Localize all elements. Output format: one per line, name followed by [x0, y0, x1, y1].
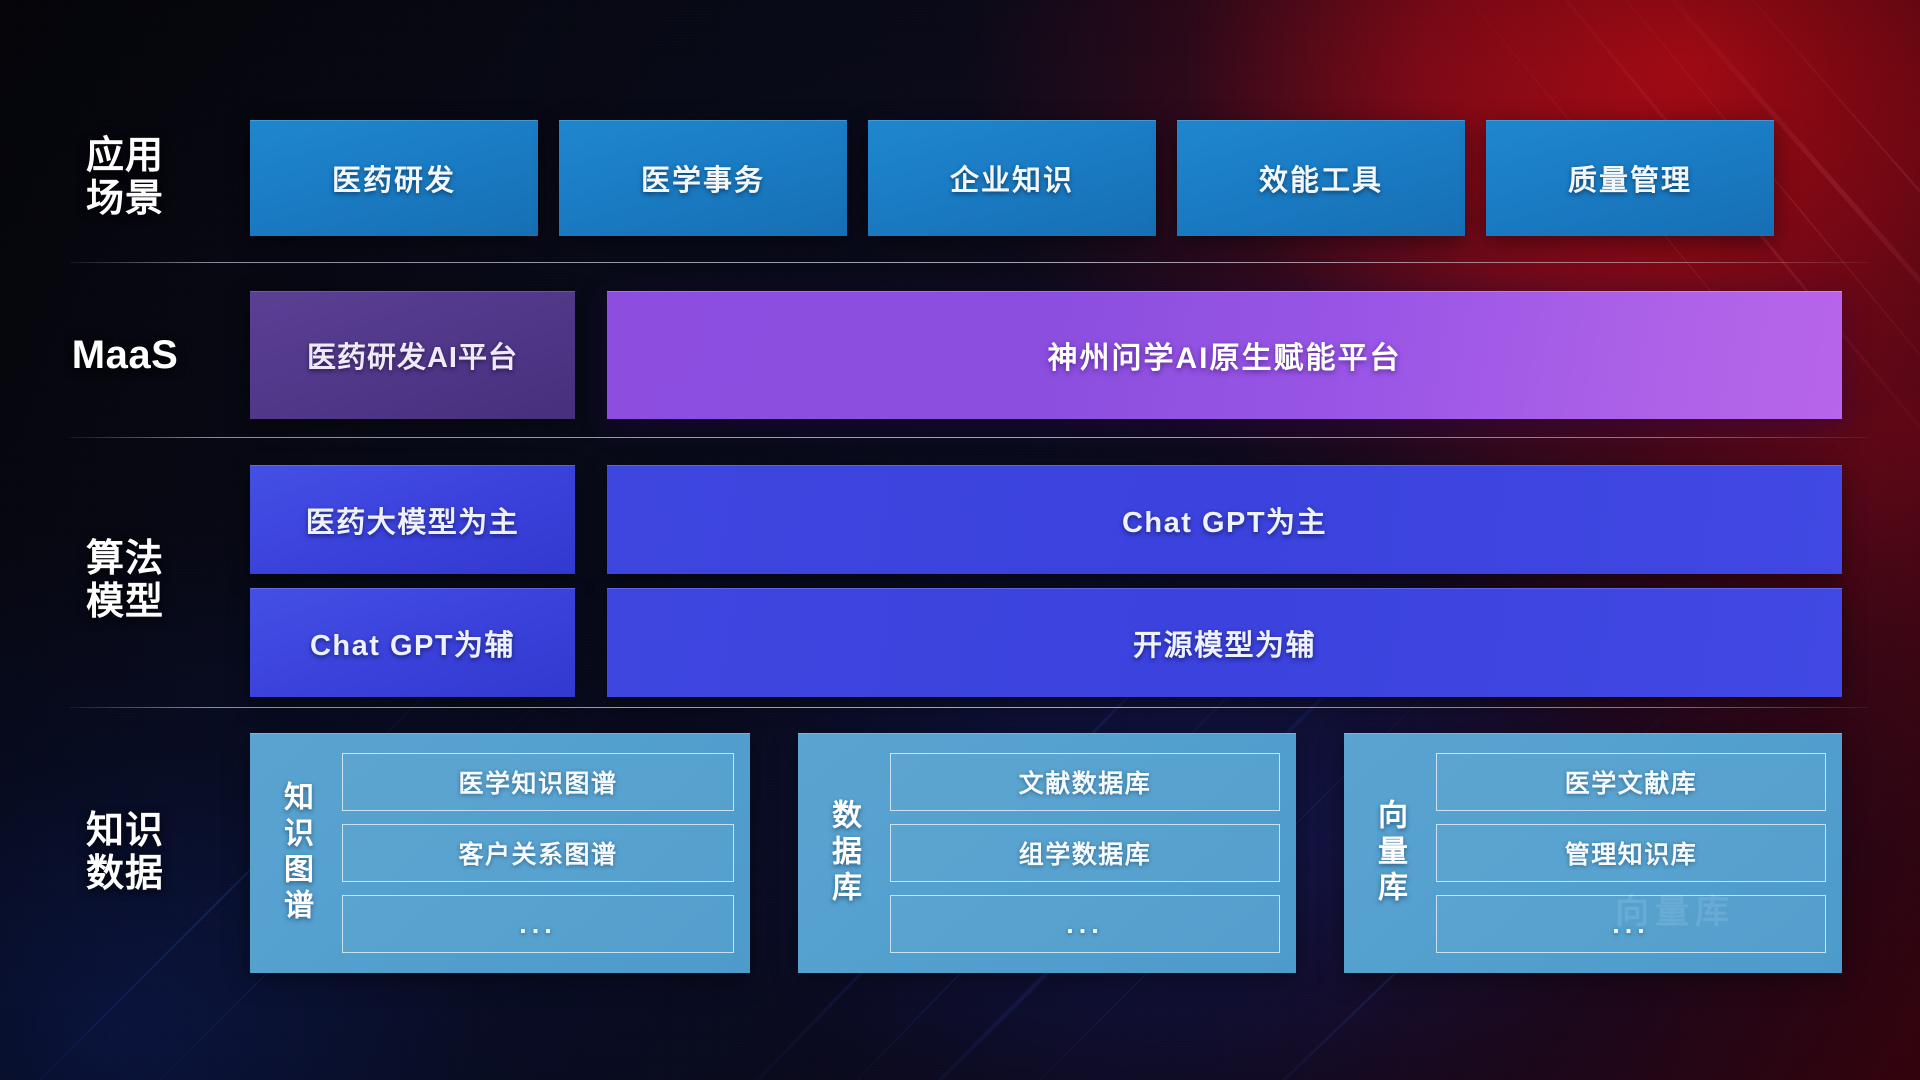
knowledge-item-medical-knowledge-graph[interactable]: 医学知识图谱: [342, 753, 734, 811]
algo-card-chatgpt-primary[interactable]: Chat GPT为主: [607, 465, 1842, 574]
row-label-maas: MaaS: [0, 333, 250, 378]
knowledge-item-management-knowledge-store[interactable]: 管理知识库: [1436, 824, 1826, 882]
application-card-track: 医药研发 医学事务 企业知识 效能工具 质量管理: [250, 120, 1774, 236]
knowledge-item-list: 医学知识图谱 客户关系图谱 ...: [342, 747, 734, 959]
knowledge-item-list: 医学文献库 管理知识库 ...: [1436, 747, 1826, 959]
divider-maas-algo: [70, 437, 1868, 438]
row-algorithm-models: 算法 模型 医药大模型为主 Chat GPT为主 Chat GPT为辅 开源模型…: [0, 465, 1920, 697]
row-label-line1: 算法: [0, 538, 250, 581]
knowledge-item-more-2[interactable]: ...: [890, 895, 1280, 953]
row-label-line1: 应用: [0, 135, 250, 178]
row-label-algorithm-models: 算法 模型: [0, 538, 250, 623]
divider-apps-maas: [70, 262, 1868, 263]
row-label-line1: 知识: [0, 810, 250, 853]
knowledge-item-medical-literature-store[interactable]: 医学文献库: [1436, 753, 1826, 811]
row-application-scenarios: 应用 场景 医药研发 医学事务 企业知识 效能工具 质量管理: [0, 120, 1920, 236]
knowledge-item-list: 文献数据库 组学数据库 ...: [890, 747, 1280, 959]
knowledge-group-title-knowledge-graph: 知识图谱: [262, 747, 328, 959]
knowledge-group-database: 数据库 文献数据库 组学数据库 ...: [798, 733, 1296, 973]
row-label-line2: 数据: [0, 853, 250, 896]
knowledge-item-customer-relation-graph[interactable]: 客户关系图谱: [342, 824, 734, 882]
knowledge-group-title-database: 数据库: [810, 747, 876, 959]
knowledge-item-literature-database[interactable]: 文献数据库: [890, 753, 1280, 811]
knowledge-item-more-3[interactable]: ...: [1436, 895, 1826, 953]
knowledge-group-knowledge-graph: 知识图谱 医学知识图谱 客户关系图谱 ...: [250, 733, 750, 973]
app-card-medical-affairs[interactable]: 医学事务: [559, 120, 847, 236]
knowledge-group-vector-store: 向量库 医学文献库 管理知识库 ...: [1344, 733, 1842, 973]
algorithm-grid: 医药大模型为主 Chat GPT为主 Chat GPT为辅 开源模型为辅: [250, 465, 1842, 697]
maas-platform-medicine-ai[interactable]: 医药研发AI平台: [250, 291, 575, 419]
knowledge-item-more-1[interactable]: ...: [342, 895, 734, 953]
algo-card-opensource-secondary[interactable]: 开源模型为辅: [607, 588, 1842, 697]
app-card-efficiency-tools[interactable]: 效能工具: [1177, 120, 1465, 236]
knowledge-group-track: 知识图谱 医学知识图谱 客户关系图谱 ... 数据库 文献数据库 组学数据库 .…: [250, 733, 1842, 973]
row-maas: MaaS 医药研发AI平台 神州问学AI原生赋能平台: [0, 291, 1920, 419]
row-label-application-scenarios: 应用 场景: [0, 135, 250, 220]
algo-card-chatgpt-secondary[interactable]: Chat GPT为辅: [250, 588, 575, 697]
row-label-knowledge-data: 知识 数据: [0, 810, 250, 895]
divider-algo-knowledge: [70, 707, 1868, 708]
app-card-enterprise-knowledge[interactable]: 企业知识: [868, 120, 1156, 236]
row-label-line2: 模型: [0, 581, 250, 624]
app-card-medicine-rnd[interactable]: 医药研发: [250, 120, 538, 236]
architecture-diagram: 应用 场景 医药研发 医学事务 企业知识 效能工具 质量管理 MaaS 医药研发…: [0, 0, 1920, 1080]
algorithm-row-primary: 医药大模型为主 Chat GPT为主: [250, 465, 1842, 574]
knowledge-group-title-vector-store: 向量库: [1356, 747, 1422, 959]
maas-track: 医药研发AI平台 神州问学AI原生赋能平台: [250, 291, 1842, 419]
algo-card-medicine-llm-primary[interactable]: 医药大模型为主: [250, 465, 575, 574]
row-label-line2: 场景: [0, 178, 250, 221]
maas-platform-shenzhou[interactable]: 神州问学AI原生赋能平台: [607, 291, 1842, 419]
app-card-quality-management[interactable]: 质量管理: [1486, 120, 1774, 236]
row-knowledge-data: 知识 数据 知识图谱 医学知识图谱 客户关系图谱 ... 数据库 文献数据库 组…: [0, 733, 1920, 973]
knowledge-item-omics-database[interactable]: 组学数据库: [890, 824, 1280, 882]
algorithm-row-secondary: Chat GPT为辅 开源模型为辅: [250, 588, 1842, 697]
